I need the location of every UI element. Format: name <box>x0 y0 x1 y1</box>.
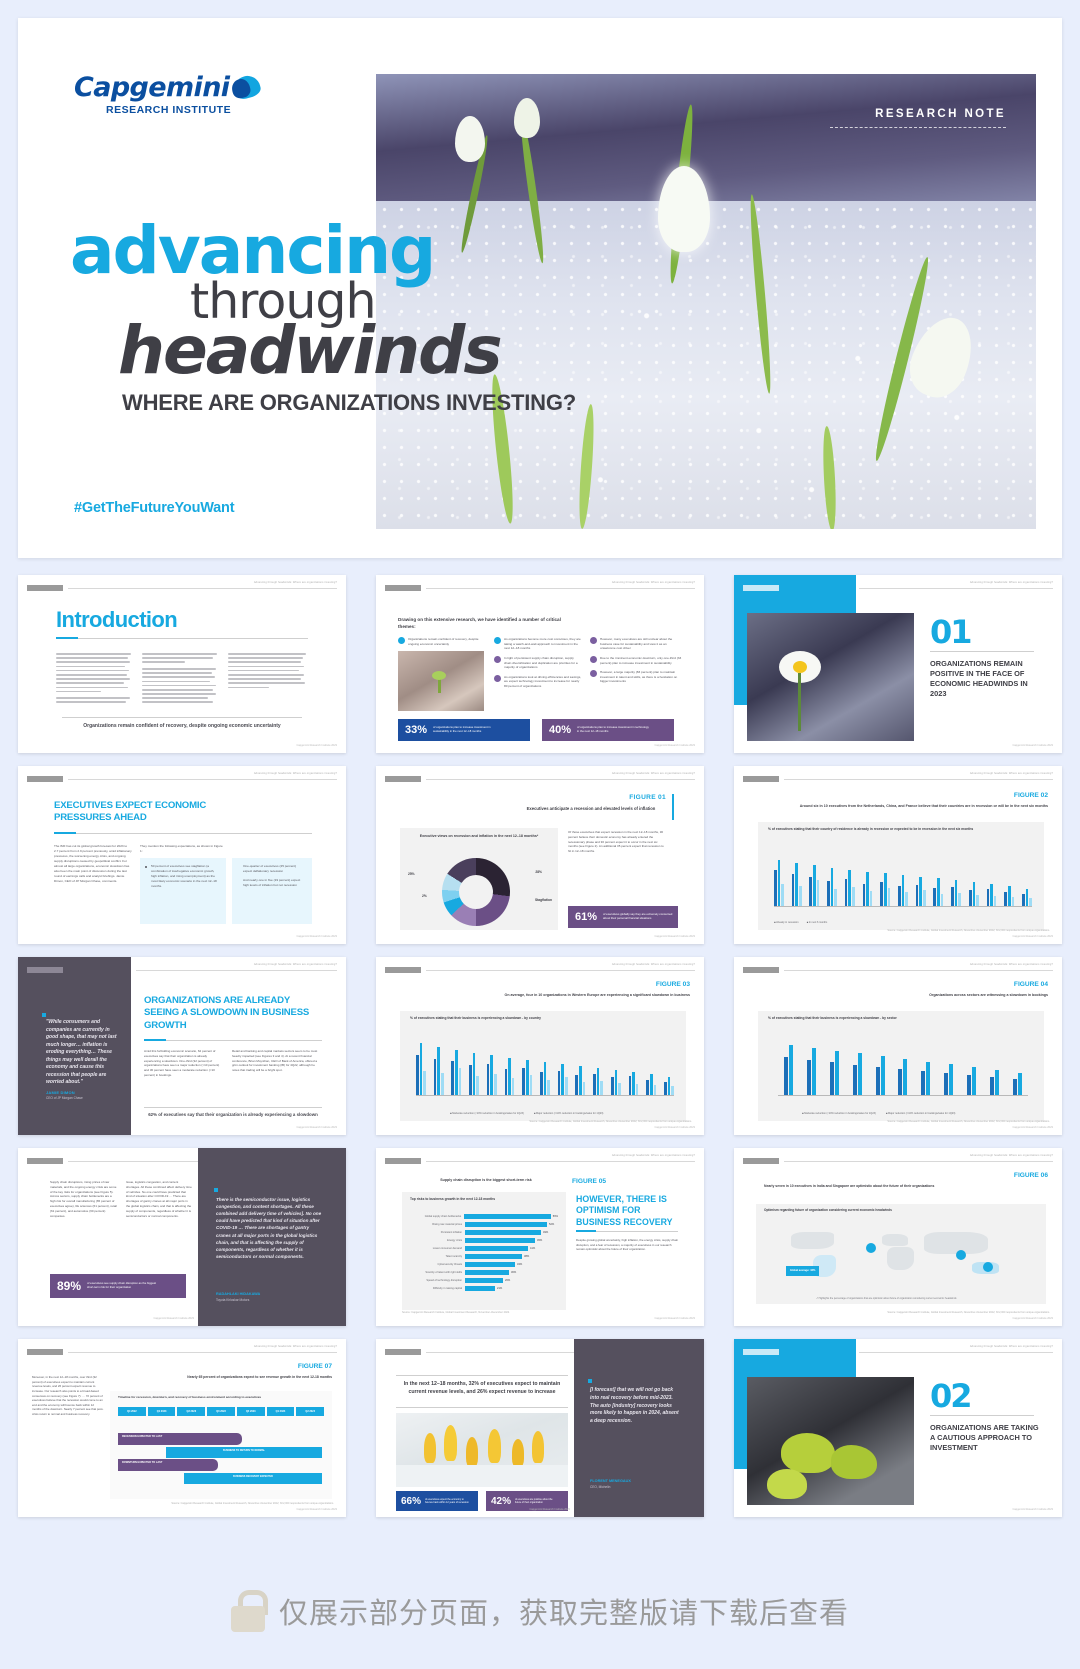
slide-footer: Capgemini Research Institute 2023 <box>654 935 695 938</box>
bar-group <box>451 1050 461 1095</box>
running-tag <box>743 1158 779 1164</box>
running-header: Advancing through headwinds: Where are o… <box>970 1154 1053 1157</box>
timeline-cell: Q1 2024 <box>267 1407 295 1416</box>
research-note-badge: RESEARCH NOTE <box>830 108 1006 128</box>
quote-role: Toyota Kirloskar Motors <box>216 1298 249 1302</box>
revenue-banner: In the next 12–18 months, 32% of executi… <box>396 1381 568 1397</box>
header-rule <box>784 1161 1053 1162</box>
bar-group <box>807 1048 816 1095</box>
bar-group <box>898 1059 907 1095</box>
title-underline-blue <box>56 637 78 639</box>
callout-box-1: 50 percent of executives see stagflation… <box>140 858 226 924</box>
stat-box-89: 89% of executives see supply chain disru… <box>50 1274 186 1298</box>
slide-thumbnail-figure-02[interactable]: Advancing through headwinds: Where are o… <box>734 766 1062 944</box>
snowdrop-bloom-2 <box>514 98 540 138</box>
snowdrop-bloom-1 <box>455 116 485 162</box>
banner-rule-top <box>396 1375 568 1376</box>
key-themes-col-1: Organizations remain confident of recove… <box>398 637 486 646</box>
timeline-cell: Q2 2023 <box>177 1407 205 1416</box>
slide-thumbnail-figure-06[interactable]: Advancing through headwinds: Where are o… <box>734 1148 1062 1326</box>
donut-hole <box>459 875 493 909</box>
bar-group <box>629 1072 639 1095</box>
stat-label: of organizations plan to increase invest… <box>433 726 505 733</box>
quote-role: CEO, Michelin <box>590 1485 610 1489</box>
bullet-icon <box>398 637 405 644</box>
slowdown-col-2: Retail and banking and capital markets s… <box>232 1049 318 1073</box>
callout-text-2: And nearly one in five (19 percent) expe… <box>232 874 312 888</box>
cover-title-block: advancing through headwinds WHERE ARE OR… <box>70 220 630 416</box>
bullet-icon <box>590 637 597 644</box>
bar-group <box>487 1055 497 1095</box>
legend-item: ■ Moderate reduction (<10% reduction in … <box>802 1112 876 1115</box>
bullet-item: In light of persistent supply chain disr… <box>494 656 582 670</box>
legend-item: ■ Moderate reduction (<10% reduction in … <box>450 1112 524 1115</box>
bullet-text: As organizations become more cost consci… <box>504 637 582 651</box>
bar-group <box>845 870 855 906</box>
legend-item: ■ Major reduction (>10% reduction in boo… <box>534 1112 604 1115</box>
banner-rule-top <box>62 717 302 718</box>
capgemini-logo[interactable]: Capgemini RESEARCH INSTITUTE <box>74 74 314 116</box>
slide-thumbnail-supply-chain[interactable]: Supply chain disruptions, rising prices … <box>18 1148 346 1326</box>
bullet-icon <box>494 637 501 644</box>
watermark-strip <box>0 1577 1080 1669</box>
chart-title: % of executives stating that their count… <box>758 822 1044 832</box>
running-header: Advancing through headwinds: Where are o… <box>612 772 695 775</box>
title-underline-grey <box>596 1231 678 1232</box>
figure-caption: Executives anticipate a recession and el… <box>516 806 666 812</box>
stat-label: of organizations plan to increase invest… <box>577 726 649 733</box>
map-pin <box>983 1262 993 1272</box>
title-underline-grey <box>78 638 308 639</box>
running-header: Advancing through headwinds: Where are o… <box>612 1154 695 1157</box>
hbar-row: Difficulty in raising capital21% <box>410 1286 558 1291</box>
bullet-item: However, many executives are still uncle… <box>590 637 682 651</box>
chapter-rule <box>930 651 1034 652</box>
slide-footer: Capgemini Research Institute 2023 <box>296 1126 337 1129</box>
figure-label: FIGURE 06 <box>1014 1172 1048 1179</box>
map-pin <box>956 1250 966 1260</box>
figure-01-body: Of those executives that expect recessio… <box>568 830 664 854</box>
hbar-row: Cybersecurity threats34% <box>410 1262 558 1267</box>
figure-caption: Nearly seven in 10 executives in India a… <box>764 1184 1048 1189</box>
figure-caption: Around six in 10 executives from the Net… <box>774 804 1048 809</box>
bar-group <box>416 1043 426 1095</box>
slide-footer: Capgemini Research Institute 2023 <box>296 744 337 747</box>
bar-group <box>916 877 926 906</box>
callout-text: One-quarter of executives (25 percent) e… <box>232 858 312 874</box>
timeline-cell: Q4 2022 <box>118 1407 146 1416</box>
donut-label-25: 25% <box>408 872 415 876</box>
quote-text: [I forecast] that we will not go back in… <box>590 1387 682 1426</box>
slide-thumbnail-figure-03[interactable]: Advancing through headwinds: Where are o… <box>376 957 704 1135</box>
bullet-item: As organizations become more cost consci… <box>494 637 582 651</box>
slide-thumbnail-introduction[interactable]: Advancing through headwinds: Where are o… <box>18 575 346 753</box>
chart-legend: ■ Already in recession ■ In next 6 month… <box>774 921 827 924</box>
slide-thumbnail-key-themes[interactable]: Advancing through headwinds: Where are o… <box>376 575 704 753</box>
figure-panel: Timeline for recession, downturn, and re… <box>110 1391 332 1499</box>
bar-group <box>664 1077 674 1095</box>
hbar-row: Scarcity of talent with right skills30% <box>410 1270 558 1275</box>
bar-group <box>1004 886 1014 906</box>
chapter-title: ORGANIZATIONS REMAIN POSITIVE IN THE FAC… <box>930 659 1038 699</box>
slide-footer: Capgemini Research Institute 2023 <box>296 935 337 938</box>
bullet-icon <box>590 670 597 677</box>
thumb-photo-cracked-earth <box>398 651 484 711</box>
running-header: Advancing through headwinds: Where are o… <box>970 1345 1053 1348</box>
bar-group <box>967 1067 976 1095</box>
exec-mention-line: They mention the following expectations,… <box>140 844 226 854</box>
figure-label: FIGURE 04 <box>1014 981 1048 988</box>
bullet-icon <box>590 656 597 663</box>
stat-value: 40% <box>549 724 571 736</box>
chart-title: % of executives stating that their busin… <box>400 1011 686 1020</box>
legend-item: ■ Already in recession <box>774 921 799 924</box>
running-tag <box>27 1349 63 1355</box>
bullet-item: However, a large majority (83 percent) p… <box>590 670 682 684</box>
figure-source: Source: Capgemini Research Institute, Gl… <box>406 1120 692 1123</box>
bar-group <box>863 872 873 906</box>
bar-group <box>876 1056 885 1095</box>
bar-group <box>990 1070 999 1095</box>
daisy-stem <box>798 673 801 731</box>
bar-chart <box>416 1029 674 1095</box>
header-rule <box>784 970 1053 971</box>
bar-group <box>784 1045 793 1095</box>
legend-item: ■ Major reduction (>10% reduction in boo… <box>886 1112 956 1115</box>
bar-group <box>774 860 784 906</box>
research-note-label: RESEARCH NOTE <box>830 108 1006 120</box>
running-tag <box>385 1349 421 1355</box>
figure-panel: % of executives stating that their count… <box>758 822 1044 930</box>
chart-axis <box>416 1095 674 1096</box>
figure-label: FIGURE 07 <box>298 1363 332 1370</box>
callout-bullet-dot <box>145 866 147 868</box>
timeline-cell: Q3 2023 <box>207 1407 235 1416</box>
slide-title: Introduction <box>56 607 177 633</box>
slide-footer: Capgemini Research Institute 2023 <box>153 1317 194 1320</box>
bar-group <box>611 1070 621 1095</box>
quote-dot-icon <box>42 1013 46 1017</box>
header-rule <box>68 588 337 589</box>
figure-caption: On average, four in 10 organizations in … <box>436 993 690 998</box>
bar-chart <box>774 844 1032 906</box>
chart-title: Top risks to business growth in the next… <box>402 1192 566 1203</box>
bar-group <box>792 863 802 906</box>
chapter-rule <box>930 1415 1034 1416</box>
world-map: Global average: 42% <box>770 1220 1036 1288</box>
stat-box-33: 33% of organizations plan to increase in… <box>398 719 530 741</box>
chart-title: Timeline for recession, downturn, and re… <box>110 1391 332 1399</box>
header-rule <box>426 970 695 971</box>
title-line-headwinds: headwinds <box>118 318 630 384</box>
bar-group <box>830 1051 839 1095</box>
stat-label: of executives expect the economy to boun… <box>425 1498 469 1504</box>
donut-label-28: 28% <box>535 870 542 874</box>
bar-group <box>434 1047 444 1095</box>
slide-title: ORGANIZATIONS ARE ALREADY SEEING A SLOWD… <box>144 995 316 1032</box>
figure-label: FIGURE 02 <box>1014 792 1048 799</box>
global-average-badge: Global average: 42% <box>786 1266 819 1276</box>
figure-panel: Executive views on recession and inflati… <box>400 828 558 930</box>
bullet-text: Organizations remain confident of recove… <box>408 637 486 646</box>
optimism-body: Despite growing global uncertainty, high… <box>576 1238 680 1252</box>
bar-group <box>593 1068 603 1095</box>
header-rule <box>426 1161 695 1162</box>
running-header: Advancing through headwinds: Where are o… <box>254 772 337 775</box>
legend-item: ■ In next 6 months <box>807 921 828 924</box>
banner-rule <box>144 1107 322 1108</box>
header-rule <box>68 1161 201 1162</box>
running-header: Advancing through headwinds: Where are o… <box>970 772 1053 775</box>
timeline-cell: Q2 2024 <box>296 1407 324 1416</box>
donut-chart <box>442 858 510 926</box>
slide-thumbnail-revenue-outlook[interactable]: In the next 12–18 months, 32% of executi… <box>376 1339 704 1517</box>
figure-source: Source: Capgemini Research Institute, Gl… <box>764 1120 1050 1123</box>
stat-value: 33% <box>405 724 427 736</box>
bar-group <box>469 1053 479 1095</box>
header-rule <box>426 588 695 589</box>
slide-footer: Capgemini Research Institute 2023 <box>654 1126 695 1129</box>
figure-source: Source: Capgemini Research Institute, Gl… <box>764 1311 1050 1314</box>
stat-box-66: 66% of executives expect the economy to … <box>396 1491 478 1511</box>
timeline-band-purple: RECESSION EXPECTED TO LAST <box>118 1433 242 1445</box>
stat-value: 89% <box>57 1279 81 1293</box>
title-underline-grey <box>166 1040 322 1041</box>
stat-box-40: 40% of organizations plan to increase in… <box>542 719 674 741</box>
running-tag <box>385 776 421 782</box>
logo-subtitle: RESEARCH INSTITUTE <box>106 104 314 116</box>
slide-footer: Capgemini Research Institute 2023 <box>1012 935 1053 938</box>
exec-body-column: The IMF has cut its global growth foreca… <box>54 844 132 884</box>
slide-thumbnail-chapter-01[interactable]: Advancing through headwinds: Where are o… <box>734 575 1062 753</box>
figure-panel: Top risks to business growth in the next… <box>402 1192 566 1310</box>
timeline-band-blue: BUSINESS TO RETURN TO NORMAL <box>166 1447 322 1458</box>
intro-column-1 <box>56 653 131 706</box>
running-tag <box>27 585 63 591</box>
hbar-row: Global supply chain bottlenecks56% <box>410 1214 558 1219</box>
header-rule <box>68 779 337 780</box>
thumbnail-grid: Advancing through headwinds: Where are o… <box>0 575 1080 1530</box>
hbar-row: Rising raw material prices52% <box>410 1222 558 1227</box>
thumbnail-row-3: "While consumers and companies are curre… <box>0 957 1080 1135</box>
bar-group <box>558 1064 568 1095</box>
chart-title: Executive views on recession and inflati… <box>400 828 558 839</box>
chart-title: Optimism regarding future of organizatio… <box>756 1204 1046 1212</box>
quote-dot-icon <box>588 1379 592 1383</box>
title-underline-grey <box>76 833 312 834</box>
hbar-row: Lower consumer demand41% <box>410 1246 558 1251</box>
timeline-header: Q4 2022 Q1 2023 Q2 2023 Q3 2023 Q4 2023 … <box>118 1407 324 1416</box>
bullet-icon <box>494 656 501 663</box>
bullet-item: Organizations remain confident of recove… <box>398 637 486 646</box>
quote-text: There is the semiconductor issue, logist… <box>216 1196 324 1260</box>
thumbnail-row-2: Advancing through headwinds: Where are o… <box>0 766 1080 944</box>
donut-label-stagflation: Stagflation <box>535 898 552 902</box>
running-header: Advancing through headwinds: Where are o… <box>970 963 1053 966</box>
bar-group <box>951 880 961 906</box>
chapter-photo-moss <box>747 1377 914 1505</box>
research-note-rule <box>830 127 1006 128</box>
quote-author: FLORENT MENEGAUX <box>590 1479 631 1483</box>
cover-hashtag[interactable]: #GetTheFutureYouWant <box>74 500 234 516</box>
stat-label: of executives see supply chain disruptio… <box>87 1282 161 1289</box>
bar-group <box>987 884 997 906</box>
intro-banner: Organizations remain confident of recove… <box>62 723 302 731</box>
stat-box-61: 61% of executives globally say they are … <box>568 906 678 928</box>
cover-subtitle: WHERE ARE ORGANIZATIONS INVESTING? <box>122 390 630 416</box>
bar-group <box>880 873 890 906</box>
bar-group <box>921 1062 930 1095</box>
header-rule <box>136 970 337 971</box>
figure-caption: Nearly 65 percent of organizations expec… <box>138 1375 332 1380</box>
thumbnail-row-1: Advancing through headwinds: Where are o… <box>0 575 1080 753</box>
slide-footer: Capgemini Research Institute 2023 <box>1012 1126 1053 1129</box>
running-tag <box>385 585 421 591</box>
bar-group <box>522 1060 532 1095</box>
running-header: Advancing through headwinds: Where are o… <box>254 1345 337 1348</box>
quote-role: CEO of JP Morgan Chase <box>46 1096 83 1100</box>
running-header: Advancing through headwinds: Where are o… <box>612 581 695 584</box>
chapter-title: ORGANIZATIONS ARE TAKING A CAUTIOUS APPR… <box>930 1423 1042 1453</box>
cover-inner: RESEARCH NOTE Capgemini RESEARCH INSTITU… <box>44 44 1036 540</box>
bullet-item: As organizations look at driving efficie… <box>494 675 582 689</box>
callout-box-2: One-quarter of executives (25 percent) e… <box>232 858 312 924</box>
header-rule <box>859 1352 1053 1353</box>
supply-col-1: Supply chain disruptions, rising prices … <box>50 1180 118 1218</box>
bullet-text: However, a large majority (83 percent) p… <box>600 670 682 684</box>
figure-source: Source: Capgemini Research Institute, Gl… <box>402 1311 554 1314</box>
thumb-photo-crocus <box>396 1413 568 1487</box>
bar-group <box>1022 889 1032 906</box>
quote-author: JAMIE DIMON <box>46 1090 75 1095</box>
bar-group <box>1013 1073 1022 1095</box>
global-average-label: Global average: 42% <box>790 1269 815 1272</box>
cover-slide[interactable]: RESEARCH NOTE Capgemini RESEARCH INSTITU… <box>18 18 1062 558</box>
hbar-row: Energy crisis45% <box>410 1238 558 1243</box>
bar-group <box>969 882 979 906</box>
key-themes-col-3: However, many executives are still uncle… <box>590 637 682 684</box>
bullet-item: Due to the imminent economic downturn, o… <box>590 656 682 665</box>
slide-thumbnail-figure-01[interactable]: Advancing through headwinds: Where are o… <box>376 766 704 944</box>
capgemini-mark-icon <box>232 76 262 100</box>
figure-caption: Organizations across sectors are witness… <box>844 993 1048 998</box>
bullet-text: As organizations look at driving efficie… <box>504 675 582 689</box>
chart-legend: ■ Moderate reduction (<10% reduction in … <box>450 1112 603 1115</box>
quote-text: "While consumers and companies are curre… <box>46 1019 118 1087</box>
optimism-title: HOWEVER, THERE IS OPTIMISM FOR BUSINESS … <box>576 1194 678 1228</box>
bullet-icon <box>494 675 501 682</box>
supply-col-2: Issue, logistics congestion, and content… <box>126 1180 192 1218</box>
timeline-cell: Q1 2023 <box>148 1407 176 1416</box>
chapter-number: 01 <box>930 613 971 651</box>
timeline-cell: Q4 2023 <box>237 1407 265 1416</box>
timeline-band-blue-2: BUSINESS RECOVERY EXPECTED <box>184 1473 322 1484</box>
bar-group <box>575 1066 585 1095</box>
figure-panel: Optimism regarding future of organizatio… <box>756 1204 1046 1304</box>
bar-group <box>944 1064 953 1095</box>
slide-footer: Capgemini Research Institute 2023 <box>529 1508 570 1511</box>
key-themes-col-2: As organizations become more cost consci… <box>494 637 582 689</box>
chapter-number: 02 <box>930 1377 971 1415</box>
figure-caption: Supply chain disruption is the biggest s… <box>406 1178 566 1183</box>
figure-panel: % of executives stating that their busin… <box>400 1011 686 1121</box>
slide-thumbnail-exec-pressures[interactable]: Advancing through headwinds: Where are o… <box>18 766 346 944</box>
title-underline-blue <box>144 1039 166 1041</box>
running-tag <box>27 1158 63 1164</box>
stat-label: of executives globally say they are extr… <box>603 913 675 920</box>
bar-group <box>898 875 908 906</box>
slide-footer: Capgemini Research Institute 2023 <box>1012 1317 1053 1320</box>
bar-group <box>853 1053 862 1095</box>
stat-label: of executives are positive about the fut… <box>515 1498 559 1504</box>
figure-07-body: Moreover, in the next 12–18 months, over… <box>32 1375 104 1417</box>
quote-dot-icon <box>214 1188 218 1192</box>
running-tag <box>743 967 779 973</box>
running-tag <box>27 967 63 973</box>
hbar-row: Persistent inflation49% <box>410 1230 558 1235</box>
bullet-text: In light of persistent supply chain disr… <box>504 656 582 670</box>
title-underline-blue <box>54 832 76 834</box>
header-rule <box>784 779 1053 780</box>
bullet-text: However, many executives are still uncle… <box>600 637 682 651</box>
slowdown-col-1: Amid this forbidding economic scenario, … <box>144 1049 224 1078</box>
running-tag <box>743 585 779 591</box>
callout-text: 50 percent of executives see stagflation… <box>140 858 226 889</box>
stat-value: 42% <box>491 1496 511 1507</box>
quote-author: RADAHLAKI HIDAKAWA <box>216 1292 260 1296</box>
slide-thumbnail-figure-05[interactable]: Advancing through headwinds: Where are o… <box>376 1148 704 1326</box>
intro-column-2 <box>142 653 217 706</box>
slide-thumbnail-figure-07[interactable]: Advancing through headwinds: Where are o… <box>18 1339 346 1517</box>
bar-group <box>809 865 819 906</box>
quote-panel <box>574 1339 704 1517</box>
bar-chart <box>778 1031 1028 1095</box>
slide-title: EXECUTIVES EXPECT ECONOMIC PRESSURES AHE… <box>54 800 254 825</box>
daisy-center <box>793 661 807 673</box>
figure-source: Source: Capgemini Research Institute, Gl… <box>764 929 1050 932</box>
header-rule <box>859 588 1053 589</box>
running-tag <box>743 776 779 782</box>
running-header: Advancing through headwinds: Where are o… <box>254 963 337 966</box>
logo-wordmark: Capgemini <box>74 74 314 101</box>
key-themes-heading: Drawing on this extensive research, we h… <box>398 617 573 630</box>
running-tag <box>385 967 421 973</box>
header-rule <box>68 1352 337 1353</box>
chapter-photo-daisy <box>747 613 914 741</box>
slide-thumbnail-figure-04[interactable]: Advancing through headwinds: Where are o… <box>734 957 1062 1135</box>
stat-value: 61% <box>575 911 597 923</box>
slide-footer: Capgemini Research Institute 2023 <box>654 744 695 747</box>
logo-brand-text: Capgemini <box>74 72 229 103</box>
slide-footer: Capgemini Research Institute 2023 <box>296 1508 337 1511</box>
figure-label: FIGURE 03 <box>656 981 690 988</box>
figure-source: Source: Capgemini Research Institute, Gl… <box>48 1502 334 1505</box>
stat-value: 66% <box>401 1496 421 1507</box>
thumbnail-row-5: Advancing through headwinds: Where are o… <box>0 1339 1080 1517</box>
title-underline-blue <box>576 1230 596 1232</box>
bullet-text: Due to the imminent economic downturn, o… <box>600 656 682 665</box>
chart-axis <box>774 906 1032 907</box>
figure-label: FIGURE 05 <box>572 1178 606 1185</box>
slide-thumbnail-chapter-02[interactable]: Advancing through headwinds: Where are o… <box>734 1339 1062 1517</box>
map-note: ↗ Highlights the percentage of organizat… <box>816 1297 956 1300</box>
chart-title: % of executives stating that their busin… <box>758 1011 1044 1020</box>
slide-footer: Capgemini Research Institute 2023 <box>1012 744 1053 747</box>
hbar-row: Speed of technology disruption26% <box>410 1278 558 1283</box>
slide-thumbnail-quote-slowdown[interactable]: "While consumers and companies are curre… <box>18 957 346 1135</box>
bar-group <box>933 878 943 906</box>
timeline-band-purple-2: DOWNTURN EXPECTED TO LAST <box>118 1459 218 1471</box>
